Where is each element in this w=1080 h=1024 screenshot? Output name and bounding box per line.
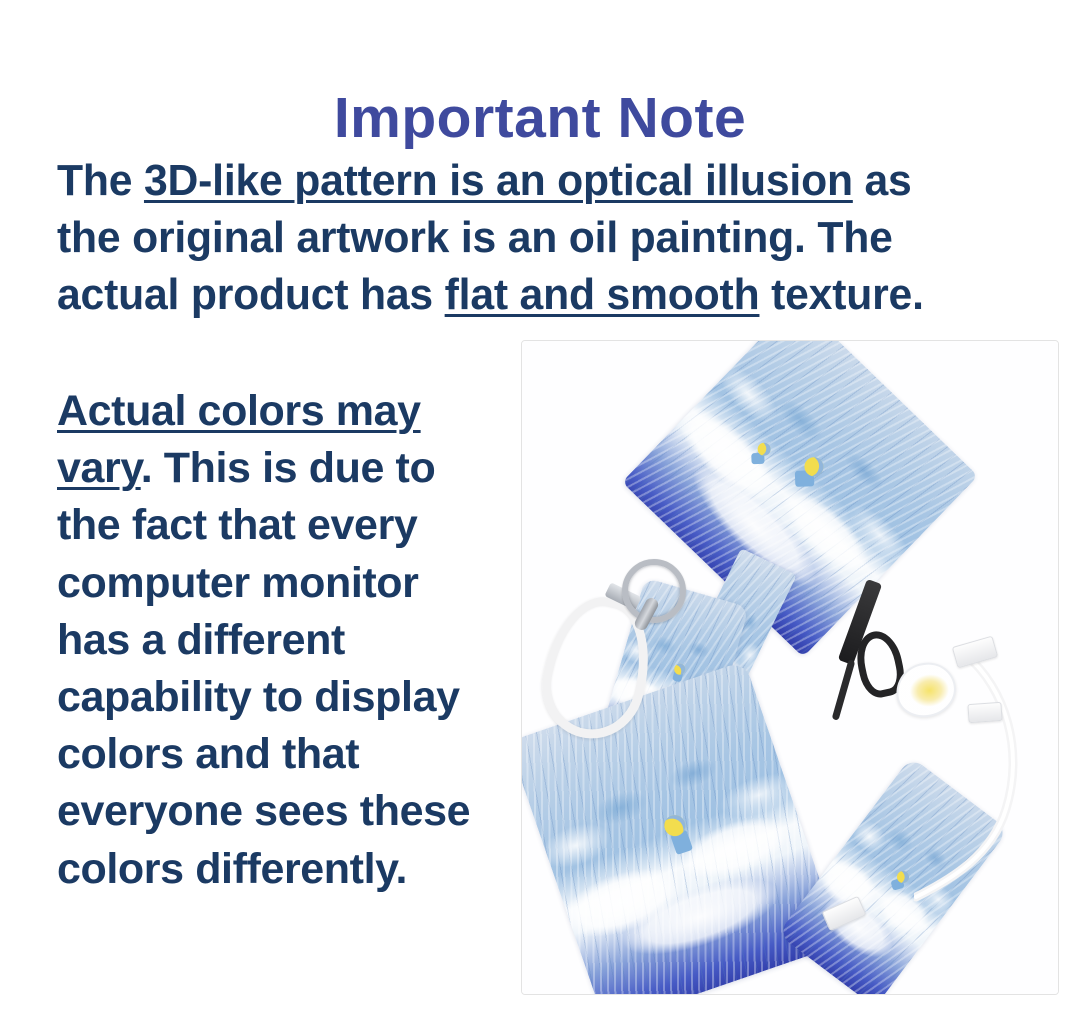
cable-plug-usbc: [967, 702, 1002, 723]
note-paragraph-top: The 3D-like pattern is an optical illusi…: [57, 152, 930, 324]
lanyard-tail: [832, 659, 856, 721]
product-photo-stage: [522, 341, 1058, 994]
note-paragraph-left: Actual colors may vary. This is due to t…: [57, 383, 497, 898]
para-top-seg-3-underlined: flat and smooth: [445, 270, 760, 319]
para-top-seg-0: The: [57, 156, 144, 205]
cable-plug-lightning: [952, 636, 998, 669]
para-top-seg-1-underlined: 3D-like pattern is an optical illusion: [144, 156, 853, 205]
page-title: Important Note: [0, 86, 1080, 152]
para-top-seg-4: texture.: [759, 270, 923, 319]
crescent-moon-icon: [674, 664, 685, 675]
product-photo-panel[interactable]: [521, 340, 1059, 995]
para-left-seg-1: . This is due to the fact that every com…: [57, 444, 470, 892]
